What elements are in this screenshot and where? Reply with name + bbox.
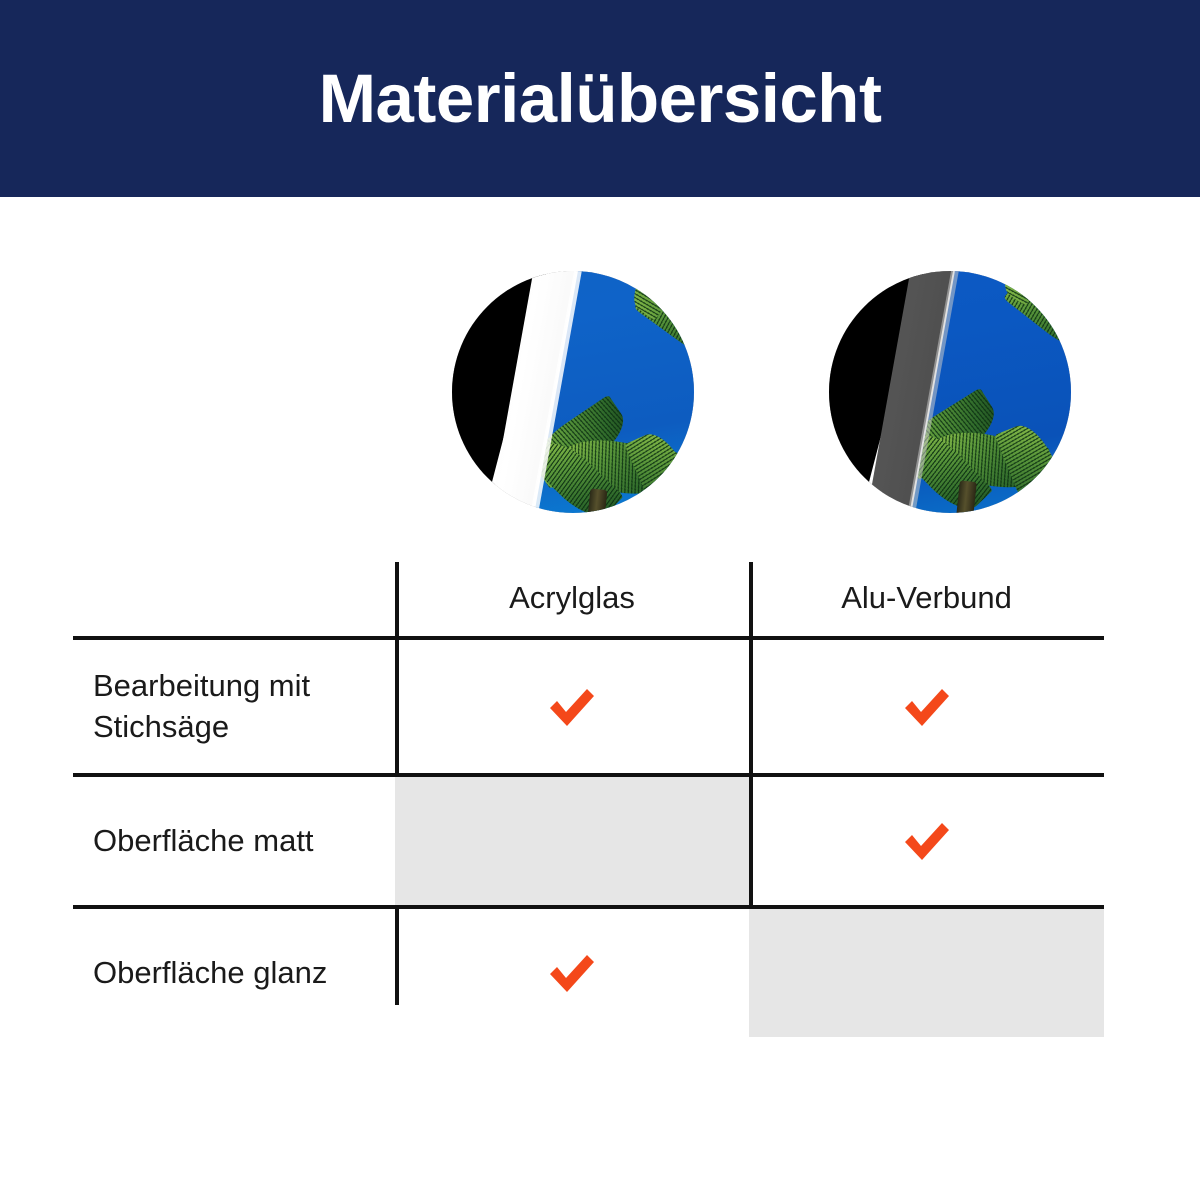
check-icon [899,817,955,865]
thumbnail-row [0,271,1200,515]
material-comparison-table: Acrylglas Alu-Verbund Bearbeitung mit St… [73,560,1104,1037]
table-row: Oberfläche matt [73,777,1104,905]
page-header: Materialübersicht [0,0,1200,197]
page-title: Materialübersicht [319,64,882,133]
feature-label-cell: Bearbeitung mit Stichsäge [73,640,395,773]
material-overview-page: Materialübersicht [0,0,1200,1200]
check-icon [899,683,955,731]
check-icon [544,683,600,731]
cell-acrylglas [395,640,749,773]
acrylglas-thumbnail [452,271,694,513]
cell-acrylglas-unavailable [395,777,749,905]
table-row: Bearbeitung mit Stichsäge [73,640,1104,773]
cell-acrylglas [395,909,749,1037]
feature-label: Oberfläche matt [93,821,314,862]
feature-label-cell: Oberfläche glanz [73,909,395,1037]
alu-verbund-panel-render [829,271,1071,513]
column-header-label: Alu-Verbund [841,580,1012,616]
table-row: Oberfläche glanz [73,909,1104,1037]
cell-alu-verbund-unavailable [749,909,1104,1037]
alu-verbund-thumbnail [829,271,1071,513]
feature-label: Oberfläche glanz [93,953,327,994]
table-header-row: Acrylglas Alu-Verbund [73,560,1104,636]
column-header-acrylglas: Acrylglas [395,560,749,636]
check-icon [544,949,600,997]
acrylglas-panel-render [452,271,694,513]
column-header-alu-verbund: Alu-Verbund [749,560,1104,636]
cell-alu-verbund [749,777,1104,905]
table-corner-cell [73,560,395,636]
column-header-label: Acrylglas [509,580,635,616]
feature-label-cell: Oberfläche matt [73,777,395,905]
feature-label: Bearbeitung mit Stichsäge [93,666,385,748]
cell-alu-verbund [749,640,1104,773]
